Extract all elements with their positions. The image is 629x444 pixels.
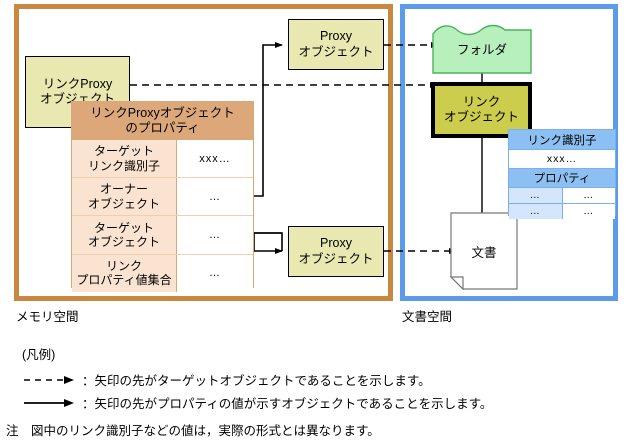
link-identifier-table: リンク識別子 xxx… プロパティ … … … … xyxy=(508,129,616,216)
solid-arrow-icon xyxy=(22,396,80,410)
legend-note: 注 図中のリンク識別子などの値は，実際の形式とは異なります。 xyxy=(6,420,380,439)
table-row: ターゲット リンク識別子 xxx… xyxy=(72,140,253,178)
dashed-arrow-icon xyxy=(22,373,80,387)
table-row: … … xyxy=(509,204,615,219)
property-key: オーナー オブジェクト xyxy=(72,178,177,215)
document-space-caption: 文書空間 xyxy=(402,306,452,325)
property-value: … xyxy=(177,216,253,253)
document-shape[interactable]: 文書 xyxy=(450,212,518,290)
legend-solid-entry: ：矢印の先がプロパティの値が示すオブジェクトであることを示します。 xyxy=(22,393,492,412)
folder-label: フォルダ xyxy=(432,22,532,74)
link-table-cell: … xyxy=(509,188,563,203)
document-label: 文書 xyxy=(450,212,518,290)
table-row: … … xyxy=(509,188,615,204)
property-key: リンク プロパティ値集合 xyxy=(72,255,177,292)
proxy-object-box-bottom[interactable]: Proxy オブジェクト xyxy=(288,226,384,277)
property-value: xxx… xyxy=(177,140,253,177)
property-value: … xyxy=(177,178,253,215)
table-row: ターゲット オブジェクト … xyxy=(72,216,253,254)
link-table-value: xxx… xyxy=(509,150,615,169)
link-table-header: リンク識別子 xyxy=(509,130,615,150)
property-key: ターゲット オブジェクト xyxy=(72,216,177,253)
link-proxy-property-table: リンクProxyオブジェクト のプロパティ ターゲット リンク識別子 xxx… … xyxy=(71,101,254,288)
diagram-canvas: リンクProxy オブジェクト Proxy オブジェクト Proxy オブジェク… xyxy=(0,0,629,444)
legend-dashed-label: ：矢印の先がターゲットオブジェクトであることを示します。 xyxy=(82,370,431,389)
link-table-cell: … xyxy=(509,204,563,219)
legend-dashed-entry: ：矢印の先がターゲットオブジェクトであることを示します。 xyxy=(22,370,431,389)
folder-shape[interactable]: フォルダ xyxy=(432,22,532,74)
proxy-object-box-top[interactable]: Proxy オブジェクト xyxy=(288,19,384,70)
table-row: オーナー オブジェクト … xyxy=(72,178,253,216)
link-table-cell: … xyxy=(563,204,616,219)
table-row: リンク プロパティ値集合 … xyxy=(72,255,253,292)
property-table-title: リンクProxyオブジェクト のプロパティ xyxy=(72,102,253,140)
property-value: … xyxy=(177,255,253,292)
property-key: ターゲット リンク識別子 xyxy=(72,140,177,177)
link-table-subheader: プロパティ xyxy=(509,169,615,188)
link-table-cell: … xyxy=(563,188,616,203)
memory-space-caption: メモリ空間 xyxy=(16,306,79,325)
legend-title: (凡例) xyxy=(22,344,55,363)
legend-solid-label: ：矢印の先がプロパティの値が示すオブジェクトであることを示します。 xyxy=(82,393,492,412)
